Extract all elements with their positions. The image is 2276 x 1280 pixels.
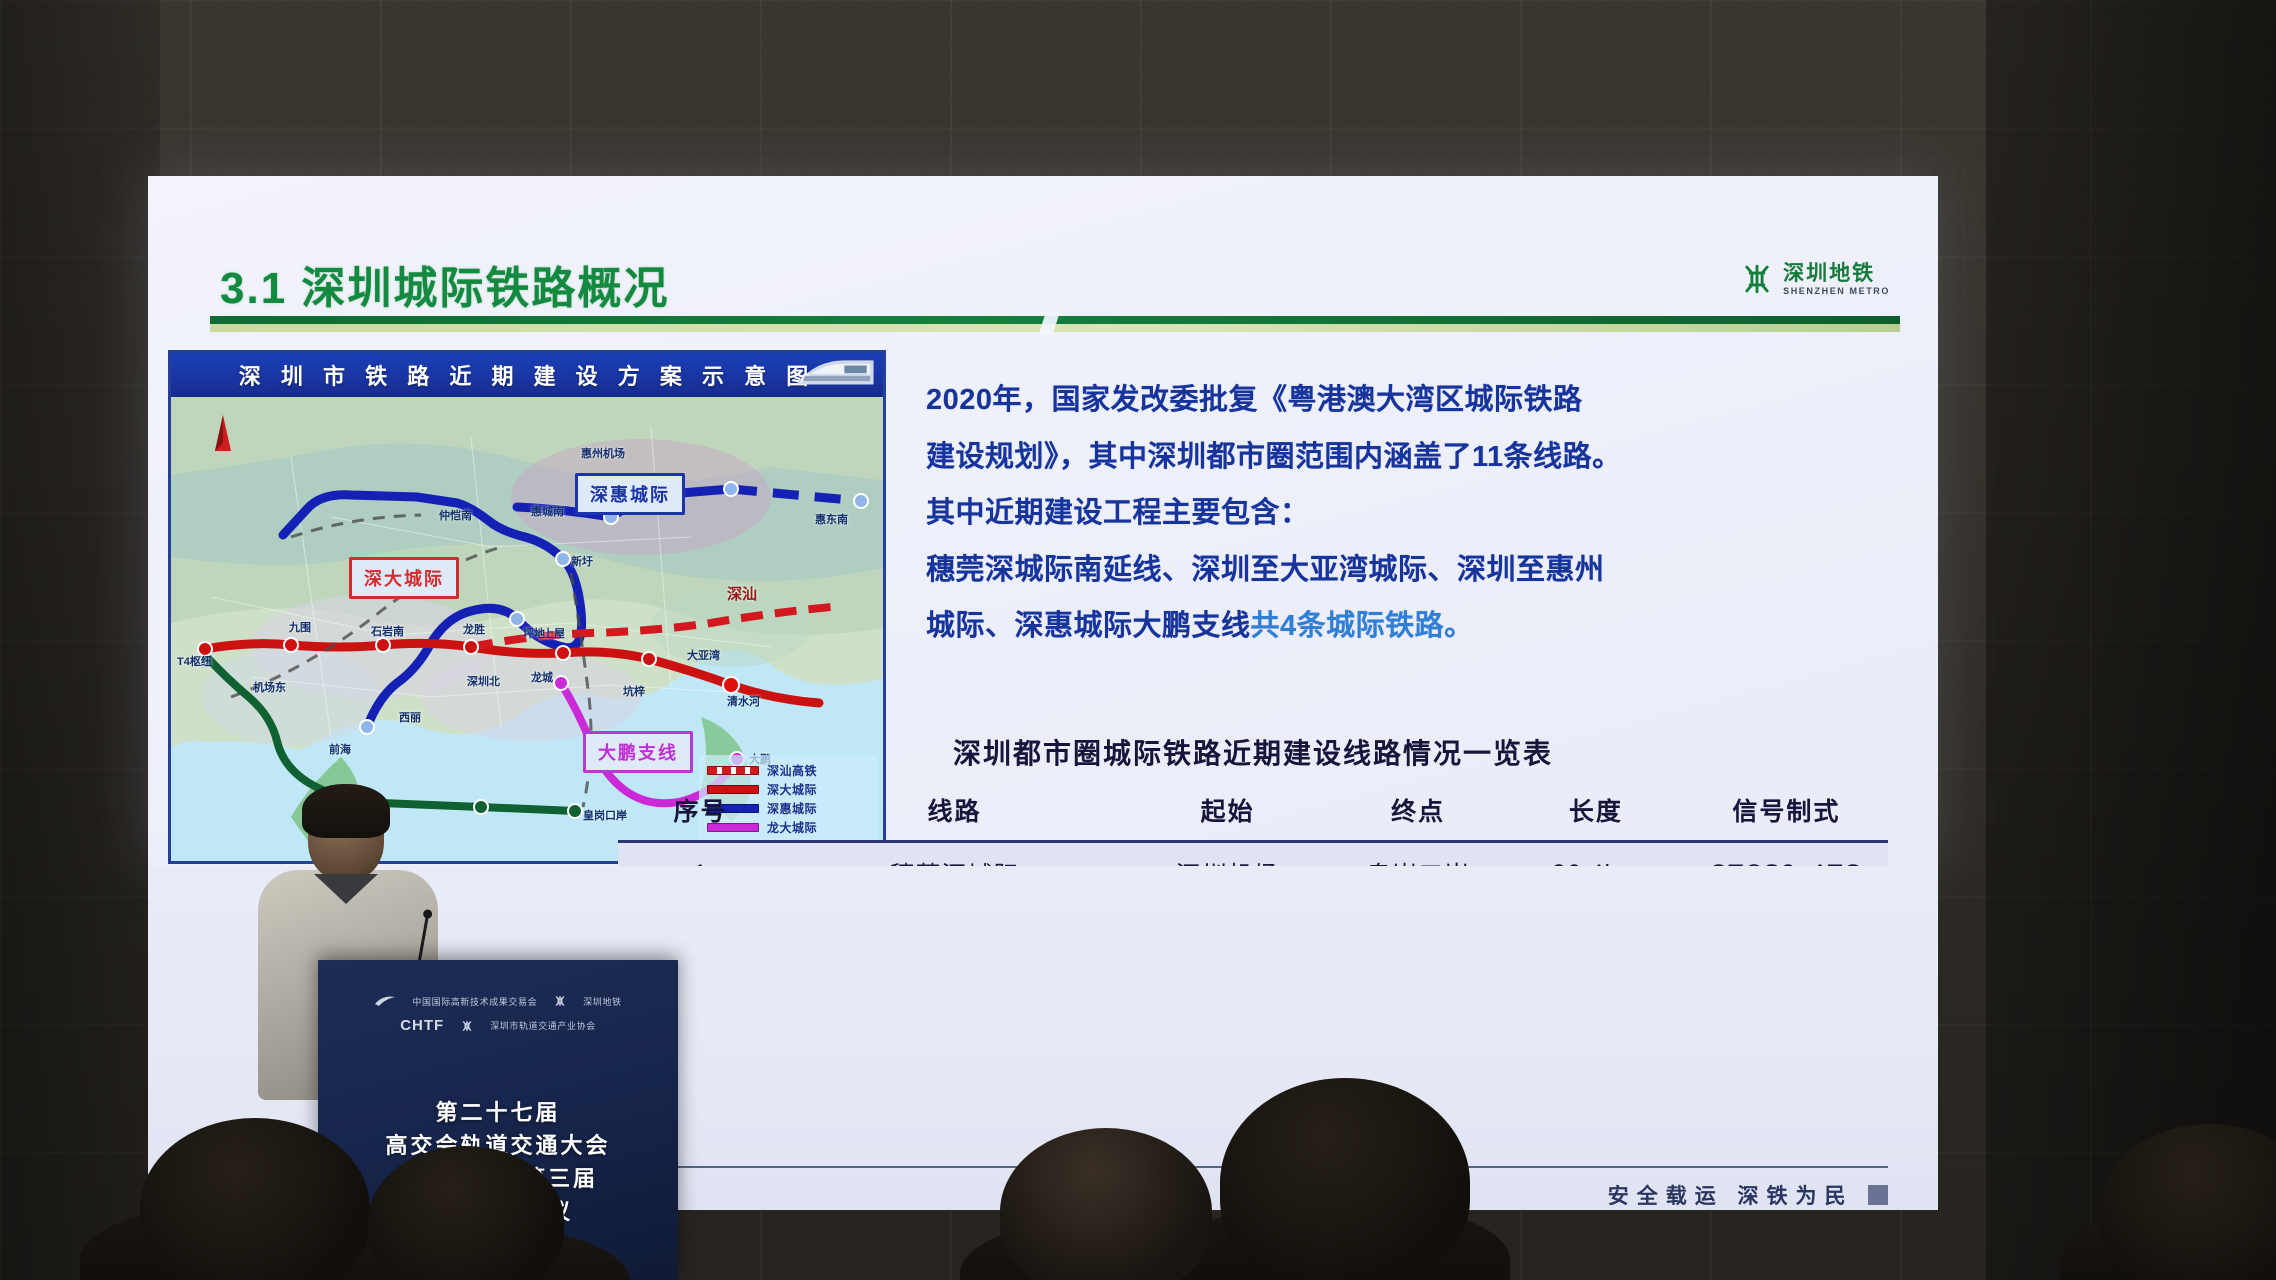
wall-left-shadow: [0, 0, 160, 1280]
map-station-label: 龙城: [531, 669, 553, 685]
map-station-label: 西丽: [399, 709, 421, 725]
auditorium-scene: 3.1 深圳城际铁路概况 深圳地铁 SHENZHEN METRO: [0, 0, 2276, 1280]
map-station-label: 九围: [289, 619, 311, 635]
map-callout-shenda: 深大城际: [349, 557, 459, 599]
copy-line-2: 建设规划》，其中深圳都市圈范围内涵盖了11条线路。: [926, 429, 1886, 486]
map-station-label: 石岩南: [371, 623, 404, 639]
title-divider: [210, 316, 1900, 332]
projection-screen: 3.1 深圳城际铁路概况 深圳地铁 SHENZHEN METRO: [148, 176, 1938, 866]
map-title: 深 圳 市 铁 路 近 期 建 设 方 案 示 意 图: [239, 359, 815, 391]
chtf-swoosh-icon: [374, 994, 396, 1008]
copy-line-5: 城际、深惠城际大鹏支线共4条城际铁路。: [926, 598, 1886, 655]
presenter-hair: [302, 784, 390, 838]
copy-line-1: 2020年，国家发改委批复《粤港澳大湾区城际铁路: [926, 372, 1886, 429]
copy-line-5-highlight: 共4条城际铁路。: [1251, 610, 1474, 642]
column-header-line: 线路: [783, 786, 1126, 842]
table-caption: 深圳都市圈城际铁路近期建设线路情况一览表: [618, 732, 1888, 772]
map-station-label: 新圩: [571, 553, 593, 569]
footer-slogan: 安全载运 深铁为民: [1608, 1180, 1854, 1210]
presentation-slide: 3.1 深圳城际铁路概况 深圳地铁 SHENZHEN METRO: [148, 176, 1938, 866]
copy-line-3: 其中近期建设工程主要包含：: [926, 485, 1886, 542]
brand-text: 深圳地铁 SHENZHEN METRO: [1783, 263, 1890, 296]
map-station-label: 机场东: [253, 679, 286, 695]
lectern-title-line-1: 第二十七届: [318, 1096, 678, 1129]
map-station-label: 上屋: [543, 625, 565, 641]
lectern-logos: 中国国际高新技术成果交易会 深圳地铁 CHTF 深圳市轨道交: [318, 994, 678, 1034]
map-station-label: 惠城南: [531, 503, 564, 519]
metro-mark-icon: [1740, 262, 1774, 296]
lectern-logo-row-2: CHTF 深圳市轨道交通产业协会: [400, 1017, 596, 1034]
footer-square-icon: [1868, 1185, 1888, 1205]
brand-name-en: SHENZHEN METRO: [1783, 287, 1890, 296]
map-callout-shenhui: 深惠城际: [575, 473, 685, 515]
copy-line-4: 穗莞深城际南延线、深圳至大亚湾城际、深圳至惠州: [926, 542, 1886, 599]
column-header-index: 序号: [618, 786, 783, 842]
map-station-label: 龙胜: [463, 621, 485, 637]
map-station-label: 深圳北: [467, 673, 500, 689]
column-header-origin: 起始: [1126, 786, 1329, 842]
lectern-logo-label-1: 中国国际高新技术成果交易会: [412, 995, 537, 1008]
brand-name-cn: 深圳地铁: [1783, 263, 1890, 284]
audience-head: [1220, 1078, 1470, 1280]
map-station-label: 惠东南: [815, 511, 848, 527]
map-title-bar: 深 圳 市 铁 路 近 期 建 设 方 案 示 意 图: [171, 353, 883, 397]
column-header-signalling: 信号制式: [1685, 786, 1888, 842]
column-header-terminus: 终点: [1329, 786, 1507, 842]
map-station-label: T4枢纽: [177, 653, 212, 669]
map-station-label: 前海: [329, 741, 351, 757]
map-station-label: 坪地: [523, 625, 545, 641]
metro-mark-small-icon: [460, 1019, 474, 1033]
lectern-logo-label-2: 深圳地铁: [583, 995, 621, 1008]
map-station-label: 坑梓: [623, 683, 645, 699]
map-station-label: 深汕: [727, 583, 757, 604]
copy-line-5-plain: 城际、深惠城际大鹏支线: [926, 610, 1251, 642]
map-station-label: 惠州机场: [581, 445, 625, 461]
lectern-logo-row-1: 中国国际高新技术成果交易会 深圳地铁: [374, 994, 621, 1008]
map-station-label: 大亚湾: [687, 647, 720, 663]
slide-body-copy: 2020年，国家发改委批复《粤港澳大湾区城际铁路 建设规划》，其中深圳都市圈范围…: [926, 372, 1886, 655]
high-speed-train-icon: [791, 355, 877, 395]
map-station-label: 仲恺南: [439, 507, 472, 523]
lectern-logo-label-3: 深圳市轨道交通产业协会: [490, 1019, 596, 1032]
column-header-length: 长度: [1507, 786, 1685, 842]
slide-header: 3.1 深圳城际铁路概况 深圳地铁 SHENZHEN METRO: [220, 252, 1898, 316]
metro-mark-small-icon: [553, 994, 567, 1008]
chtf-wordmark: CHTF: [400, 1017, 444, 1034]
wall-right-shadow: [1986, 0, 2276, 1280]
table-header-row: 序号 线路 起始 终点 长度 信号制式: [618, 786, 1888, 842]
page-title: 3.1 深圳城际铁路概况: [220, 252, 669, 316]
map-station-label: 清水河: [727, 693, 760, 709]
shenzhen-metro-logo: 深圳地铁 SHENZHEN METRO: [1740, 262, 1890, 296]
